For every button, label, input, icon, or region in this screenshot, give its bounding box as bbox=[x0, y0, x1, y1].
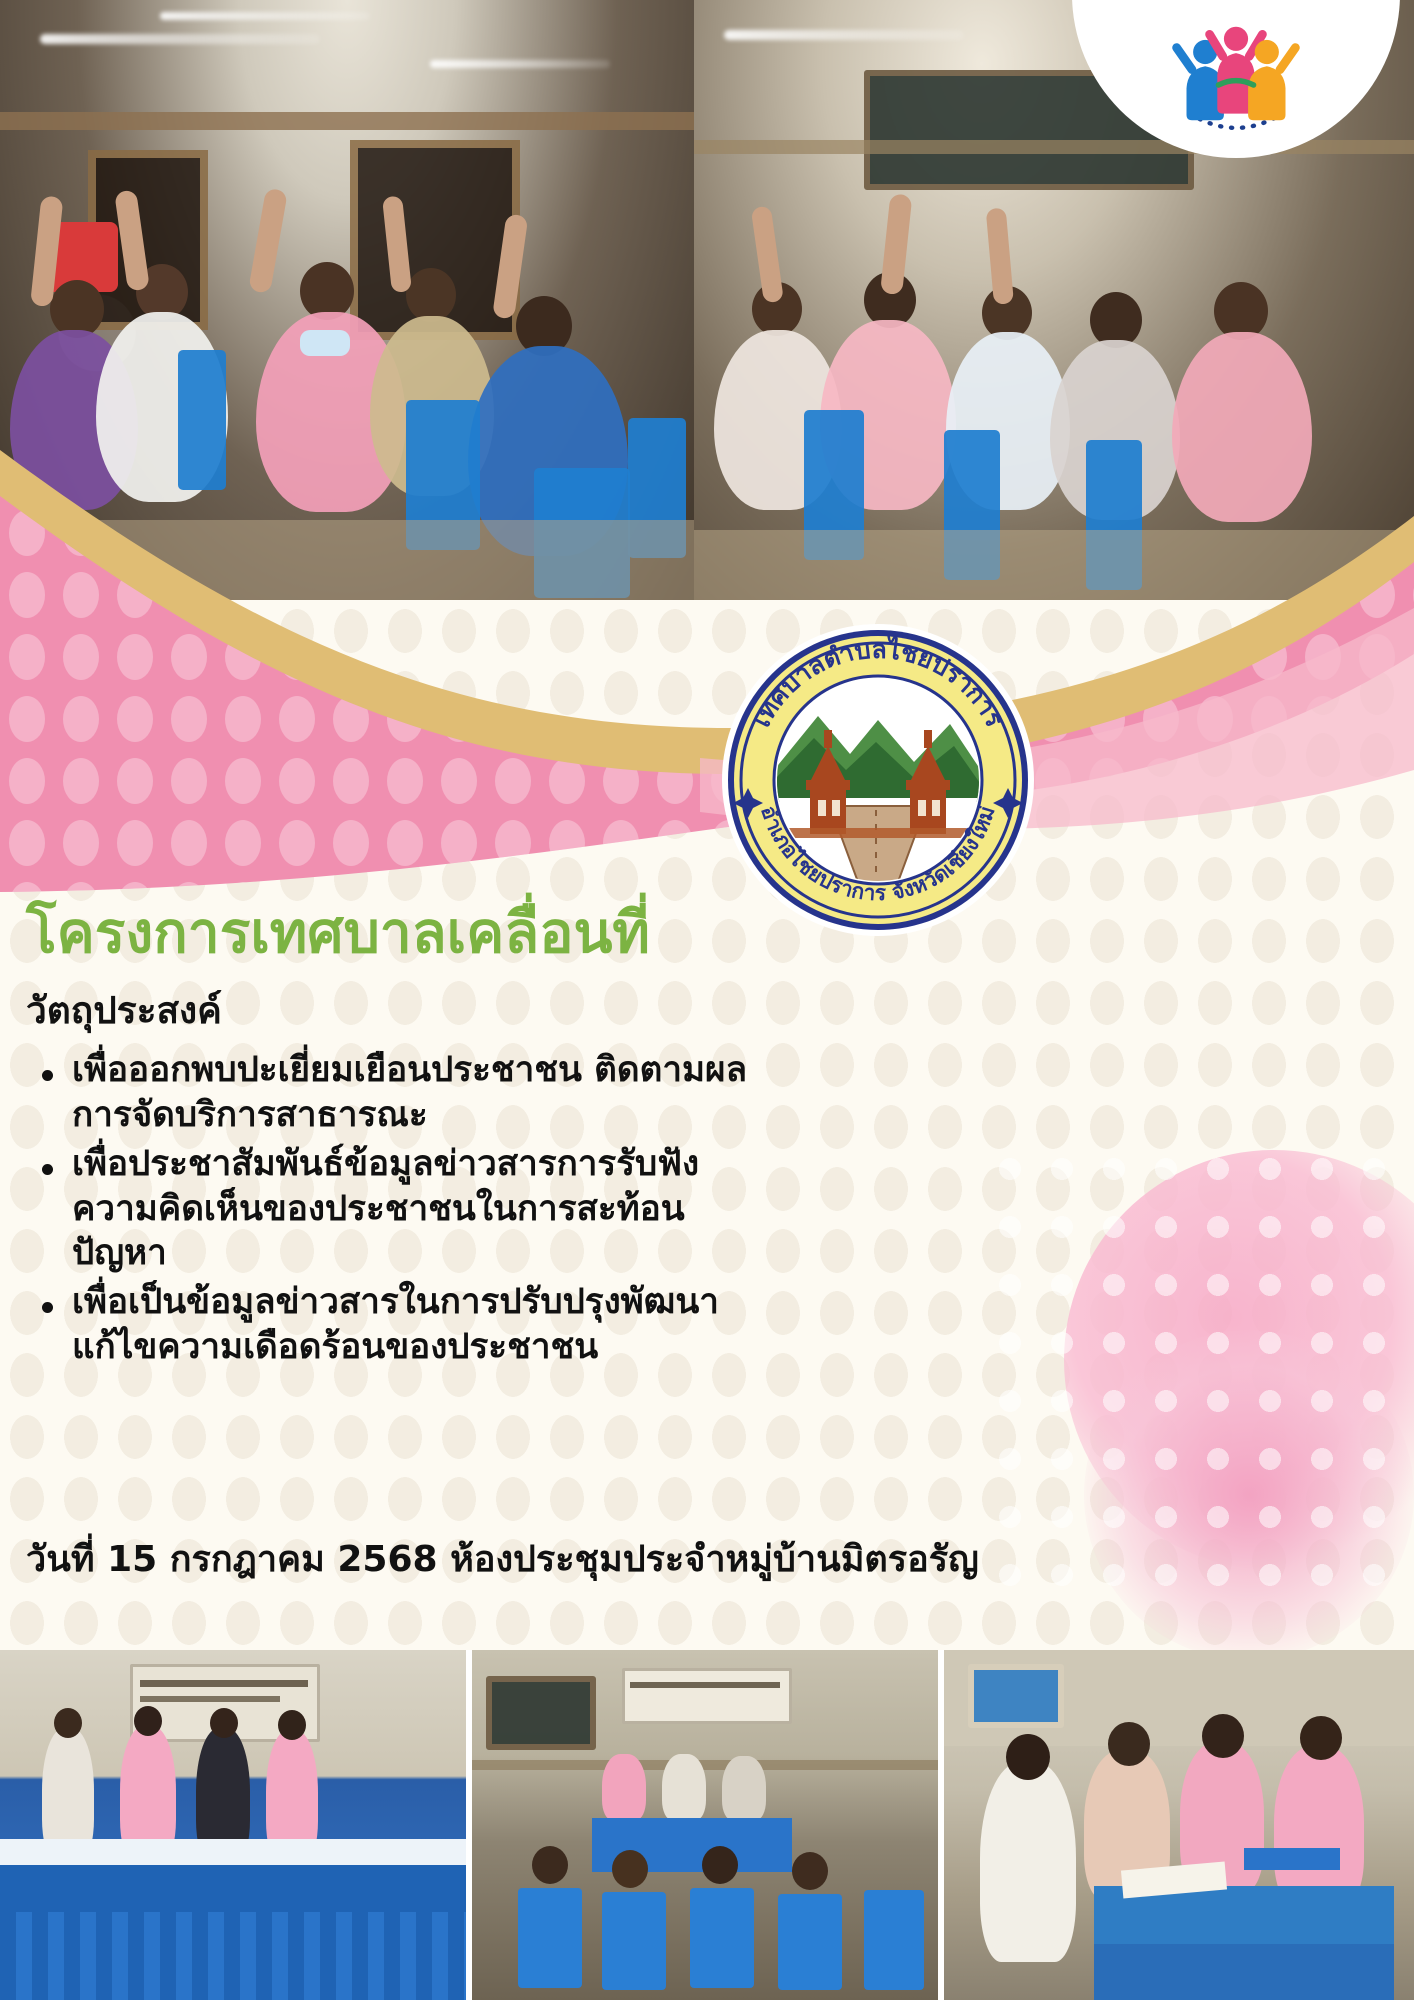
list-item: เพื่อออกพบปะเยี่ยมเยือนประชาชน ติดตามผลก… bbox=[72, 1048, 772, 1138]
objectives-heading: วัตถุประสงค์ bbox=[26, 981, 966, 1040]
photo-left-half bbox=[0, 0, 694, 640]
poster-root: เทศบาลตำบลไชยปราการ อำเภอไชยปราการ จังหว… bbox=[0, 0, 1414, 2000]
list-item: เพื่อประชาสัมพันธ์ข้อมูลข่าวสารการรับฟัง… bbox=[72, 1142, 772, 1276]
text-content: โครงการเทศบาลเคลื่อนที่ วัตถุประสงค์ เพื… bbox=[26, 900, 966, 1374]
community-people-logo-icon bbox=[1170, 8, 1302, 140]
municipal-seal: เทศบาลตำบลไชยปราการ อำเภอไชยปราการ จังหว… bbox=[718, 620, 1038, 940]
footer-photo-audience bbox=[472, 1650, 938, 2000]
date-venue-text: วันที่ 15 กรกฎาคม 2568 ห้องประชุมประจำหม… bbox=[26, 1530, 1126, 1587]
objectives-list: เพื่อออกพบปะเยี่ยมเยือนประชาชน ติดตามผลก… bbox=[26, 1048, 966, 1370]
footer-photo-strip bbox=[0, 1650, 1414, 2000]
footer-photo-registration bbox=[944, 1650, 1414, 2000]
footer-photo-stage bbox=[0, 1650, 466, 2000]
list-item: เพื่อเป็นข้อมูลข่าวสารในการปรับปรุงพัฒนา… bbox=[72, 1280, 772, 1370]
